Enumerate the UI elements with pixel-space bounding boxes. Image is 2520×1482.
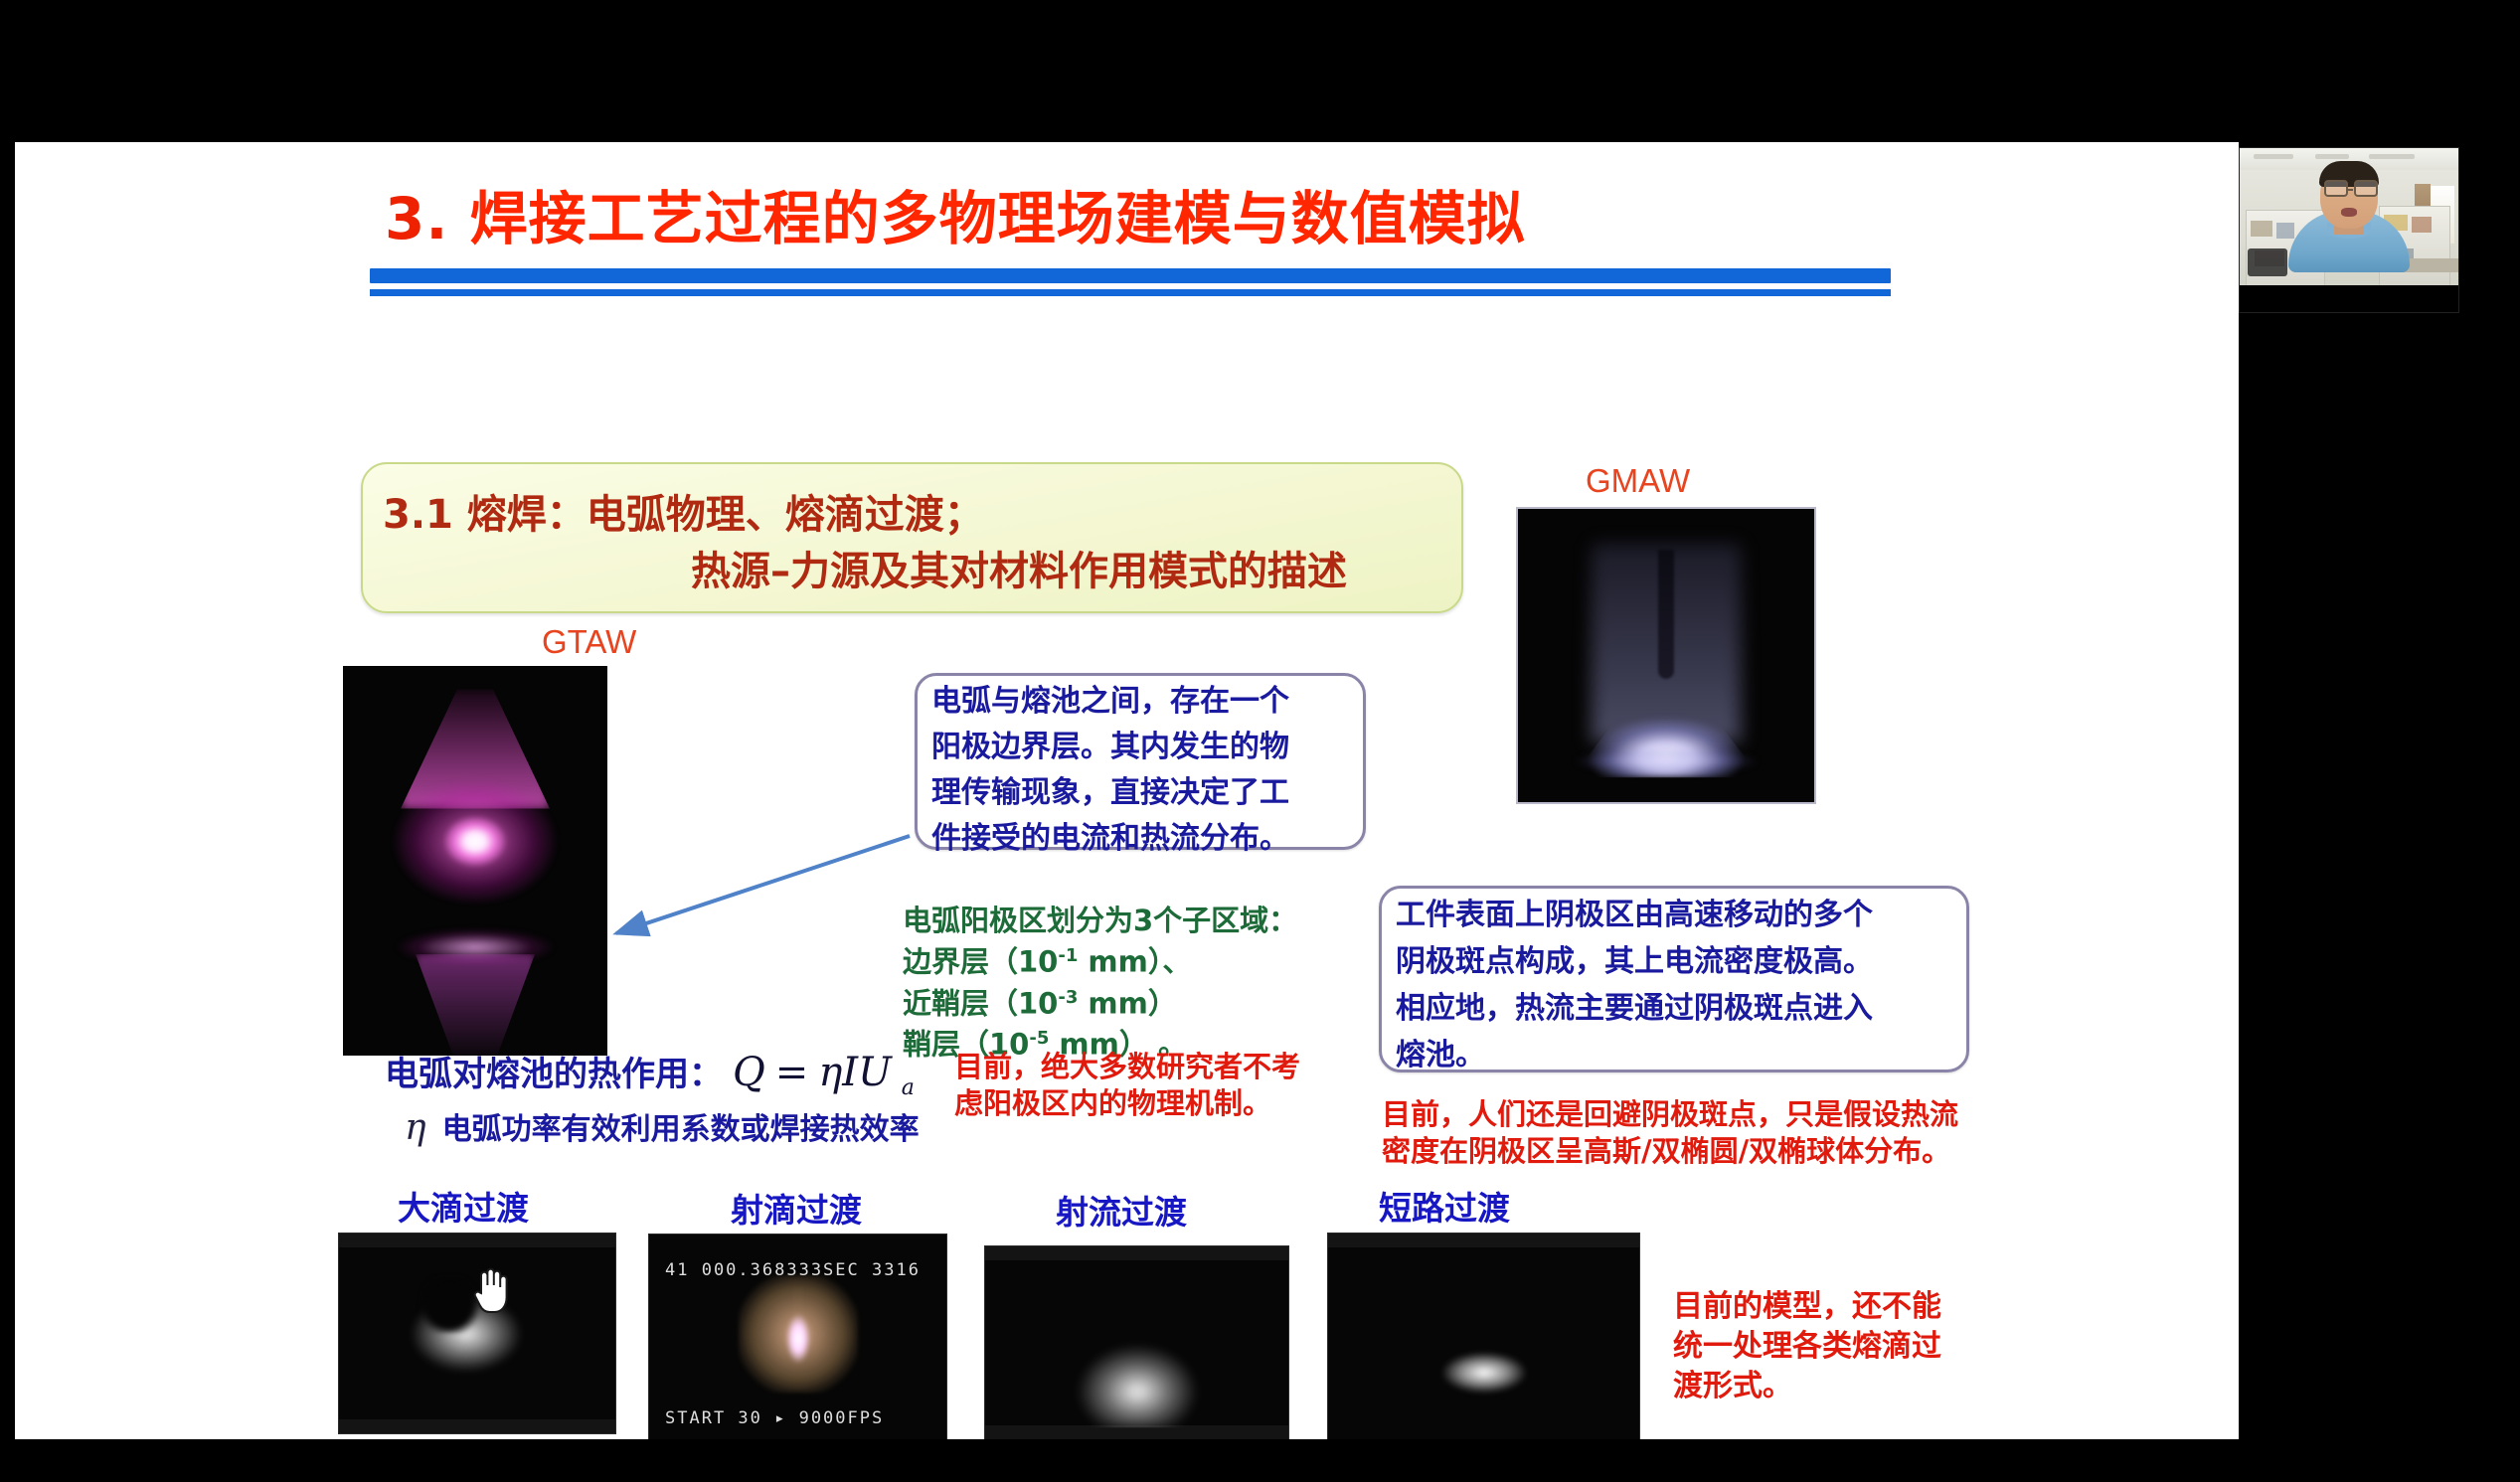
eta-symbol: η [405,1107,426,1148]
webcam-glasses-bridge [2346,189,2353,191]
subzone-3-exponent: -3 [1058,987,1078,1008]
red-note-anode-line-2: 虑阳极区内的物理机制。 [954,1085,1300,1122]
mode-label-short-circuit: 短路过渡 [1379,1182,1510,1230]
page-title-number: 3. [385,185,448,252]
formula-label: 电弧对熔池的热作用： [385,1055,723,1094]
presenter-video-tile[interactable] [2239,147,2459,313]
anode-subzones-note: 电弧阳极区划分为3个子区域： 边界层（10-1 mm）、 近鞘层（10-3 mm… [903,903,1297,1063]
gtaw-arc-core [356,723,594,951]
gmaw-electrode [1658,550,1674,679]
hs-camera-overlay-bottom: START 30 ▸ 9000FPS [665,1408,884,1428]
short-circuit-flash [1425,1338,1544,1407]
webcam-letterbox [2240,285,2458,312]
mode-photo-spray [984,1245,1289,1439]
callout-cathode-line-3: 相应地，热流主要通过阴极斑点进入 [1382,982,1966,1029]
projected-droplet [739,1275,858,1393]
hs-camera-overlay-top: 41 000.368333SEC 3316 [665,1260,921,1280]
anode-subzones-line-1: 电弧阳极区划分为3个子区域： [903,903,1297,938]
section-heading-box: 3.1 熔焊：电弧物理、熔滴过渡； 热源–力源及其对材料作用模式的描述 [361,462,1463,613]
callout-anode-line-2: 阳极边界层。其内发生的物 [918,722,1363,767]
red-note-cathode-line-1: 目前，人们还是回避阴极斑点，只是假设热流 [1382,1096,1958,1133]
eta-meaning: 电弧功率有效利用系数或焊接热效率 [442,1112,920,1147]
red-note-model: 目前的模型，还不能 统一处理各类熔滴过 渡形式。 [1673,1287,1941,1406]
webcam-chair [2248,248,2287,276]
red-note-model-line-3: 渡形式。 [1673,1367,1941,1406]
webcam-glasses-right [2354,180,2378,197]
subzone-3-post: mm） [1078,986,1177,1020]
red-note-cathode: 目前，人们还是回避阴极斑点，只是假设热流 密度在阴极区呈高斯/双椭圆/双椭球体分… [1382,1096,1958,1170]
mode-photo-short-circuit [1327,1233,1640,1439]
callout-cathode-line-1: 工件表面上阴极区由高速移动的多个 [1382,889,1966,935]
presentation-slide: 3. 焊接工艺过程的多物理场建模与数值模拟 3.1 熔焊：电弧物理、熔滴过渡； … [15,142,2239,1439]
title-divider [370,268,1891,296]
page-title: 3. 焊接工艺过程的多物理场建模与数值模拟 [385,172,1526,255]
mode-photo-projected: 41 000.368333SEC 3316 START 30 ▸ 9000FPS [648,1234,947,1439]
webcam-person-mouth [2341,208,2357,217]
gmaw-arc-photo [1516,507,1816,804]
formula-subscript: a [902,1075,915,1100]
gmaw-arc-base [1542,743,1790,783]
red-note-cathode-line-2: 密度在阴极区呈高斯/双椭圆/双椭球体分布。 [1382,1133,1958,1170]
page-title-text: 焊接工艺过程的多物理场建模与数值模拟 [470,185,1526,252]
divider-thin-bar [370,289,1891,296]
red-note-anode: 目前，绝大多数研究者不考 虑阳极区内的物理机制。 [954,1049,1300,1122]
formula-rhs: ηIU [818,1050,891,1095]
eta-definition: η电弧功率有效利用系数或焊接热效率 [405,1104,920,1148]
red-note-anode-line-1: 目前，绝大多数研究者不考 [954,1049,1300,1085]
anode-subzones-line-2: 边界层（10-1 mm）、 [903,938,1297,980]
caption-gmaw: GMAW [1586,462,1690,500]
callout-cathode-line-4: 熔池。 [1382,1029,1966,1075]
mode-label-globular: 大滴过渡 [398,1182,529,1230]
gtaw-arc-tail [416,954,535,1056]
anode-subzones-line-3: 近鞘层（10-3 mm） [903,980,1297,1022]
hand-pointer-cursor[interactable] [467,1263,511,1315]
spray-arc-plume [1043,1278,1232,1427]
screen-root: 3. 焊接工艺过程的多物理场建模与数值模拟 3.1 熔焊：电弧物理、熔滴过渡； … [0,0,2520,1482]
mode-label-spray: 射流过渡 [1056,1186,1187,1234]
callout-anode-line-3: 理传输现象，直接决定了工 [918,767,1363,813]
subzone-2-post: mm）、 [1078,945,1191,979]
callout-anode-layer: 电弧与熔池之间，存在一个 阳极边界层。其内发生的物 理传输现象，直接决定了工 件… [915,673,1366,850]
callout-anode-line-1: 电弧与熔池之间，存在一个 [918,676,1363,722]
heat-input-formula: 电弧对熔池的热作用：Q=ηIUa [385,1047,915,1100]
divider-thick-bar [370,268,1891,283]
gtaw-arc-photo [343,666,607,1056]
subzone-2-pre: 边界层（10 [903,945,1058,979]
webcam-glasses-left [2324,180,2348,197]
red-note-model-line-2: 统一处理各类熔滴过 [1673,1327,1941,1367]
formula-q: Q [733,1050,765,1095]
subzone-3-pre: 近鞘层（10 [903,986,1058,1020]
callout-cathode-line-2: 阴极斑点构成，其上电流密度极高。 [1382,935,1966,982]
callout-anode-line-4: 件接受的电流和热流分布。 [918,813,1363,859]
subzone-2-exponent: -1 [1058,945,1078,966]
formula-equals: = [775,1050,809,1095]
callout-cathode-spots: 工件表面上阴极区由高速移动的多个 阴极斑点构成，其上电流密度极高。 相应地，热流… [1379,886,1969,1072]
subzone-4-exponent: -5 [1029,1028,1049,1049]
mode-label-projected: 射滴过渡 [731,1184,862,1232]
caption-gtaw: GTAW [542,623,636,661]
red-note-model-line-1: 目前的模型，还不能 [1673,1287,1941,1327]
section-heading-line-1: 3.1 熔焊：电弧物理、熔滴过渡； [383,482,984,540]
section-heading-line-2: 热源–力源及其对材料作用模式的描述 [691,539,1347,596]
